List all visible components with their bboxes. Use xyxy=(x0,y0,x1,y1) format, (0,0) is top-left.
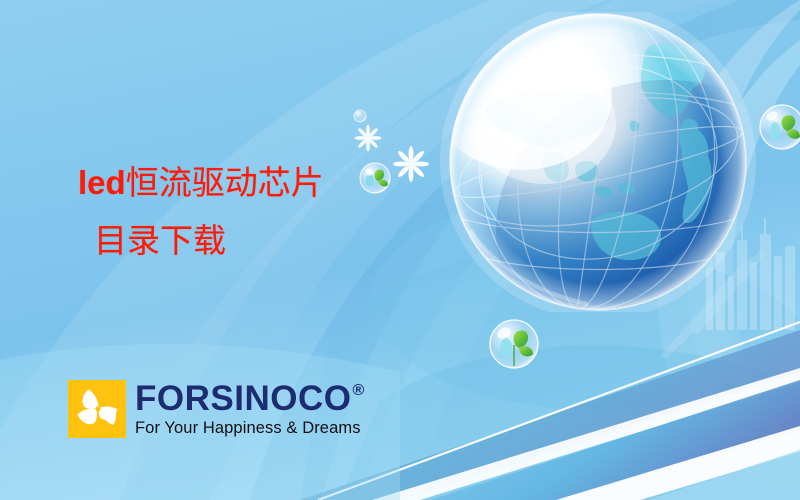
logo-company-name: FORSINOCO ® xyxy=(135,381,365,416)
company-logo[interactable]: FORSINOCO ® For Your Happiness & Dreams xyxy=(68,380,365,438)
headline-line-2: 目录下载 xyxy=(78,218,418,264)
four-petal-pinwheel-icon xyxy=(68,380,126,438)
logo-text-block: FORSINOCO ® For Your Happiness & Dreams xyxy=(135,381,365,437)
bubble-sprout-icon xyxy=(760,105,800,149)
flower-burst-icon xyxy=(355,125,382,152)
promo-banner: led恒流驱动芯片 目录下载 FORSINOCO ® xyxy=(0,0,800,500)
logo-tagline: For Your Happiness & Dreams xyxy=(135,420,365,437)
bubble-sprout-icon xyxy=(490,320,538,368)
registered-trademark-icon: ® xyxy=(352,383,364,399)
earth-globe-icon xyxy=(398,12,798,312)
headline-cjk-text: 恒流驱动芯片 xyxy=(126,163,324,202)
logo-name-text: FORSINOCO xyxy=(135,381,351,416)
bubble-icon xyxy=(354,110,366,122)
headline-latin-text: led xyxy=(78,164,126,201)
headline-line-1: led恒流驱动芯片 xyxy=(78,160,418,206)
headline-block: led恒流驱动芯片 目录下载 xyxy=(78,160,418,263)
